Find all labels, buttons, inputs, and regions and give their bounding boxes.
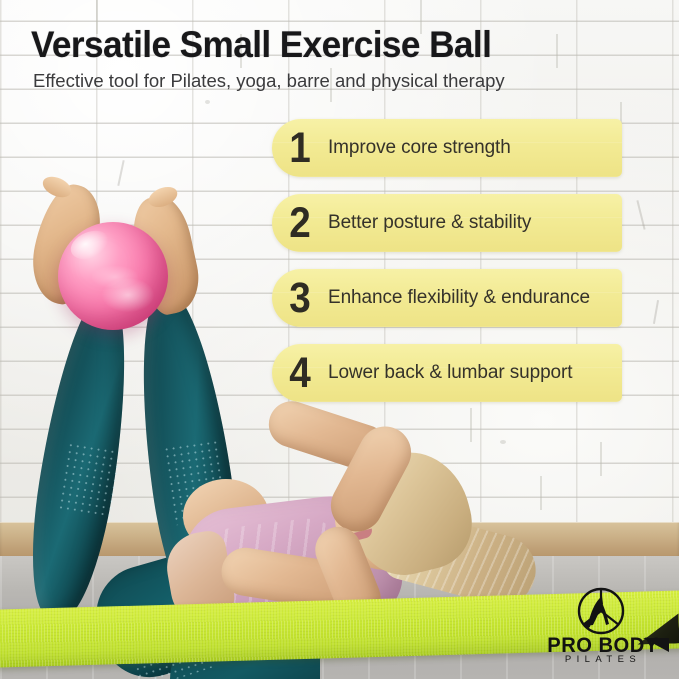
page-subtitle: Effective tool for Pilates, yoga, barre … [33,69,505,93]
feature-item-2: 2 Better posture & stability [272,194,622,252]
pilates-figure-circle-icon [575,586,627,636]
feature-item-4: 4 Lower back & lumbar support [272,344,622,402]
legging-mesh-panel [57,441,122,521]
feature-label: Enhance flexibility & endurance [328,287,590,309]
brick-joint [556,34,558,68]
feature-number: 1 [275,125,325,171]
feature-label: Improve core strength [328,137,511,159]
pink-exercise-ball [58,222,168,330]
feature-number: 3 [275,275,325,321]
feature-item-1: 1 Improve core strength [272,119,622,177]
feature-label: Lower back & lumbar support [328,362,572,384]
feature-item-3: 3 Enhance flexibility & endurance [272,269,622,327]
feature-number: 4 [275,350,325,396]
brand-tagline: PILATES [539,654,667,665]
feature-list: 1 Improve core strength 2 Better posture… [272,119,632,419]
page-title: Versatile Small Exercise Ball [31,24,491,66]
brand-logo: PRO BODY PILATES [539,586,667,664]
ball-logo-watermark [92,266,138,288]
feature-label: Better posture & stability [328,212,531,234]
brick-joint [600,442,602,476]
feature-number: 2 [275,200,325,246]
infographic-canvas: Versatile Small Exercise Ball Effective … [0,0,679,679]
wall-chip [205,100,210,104]
